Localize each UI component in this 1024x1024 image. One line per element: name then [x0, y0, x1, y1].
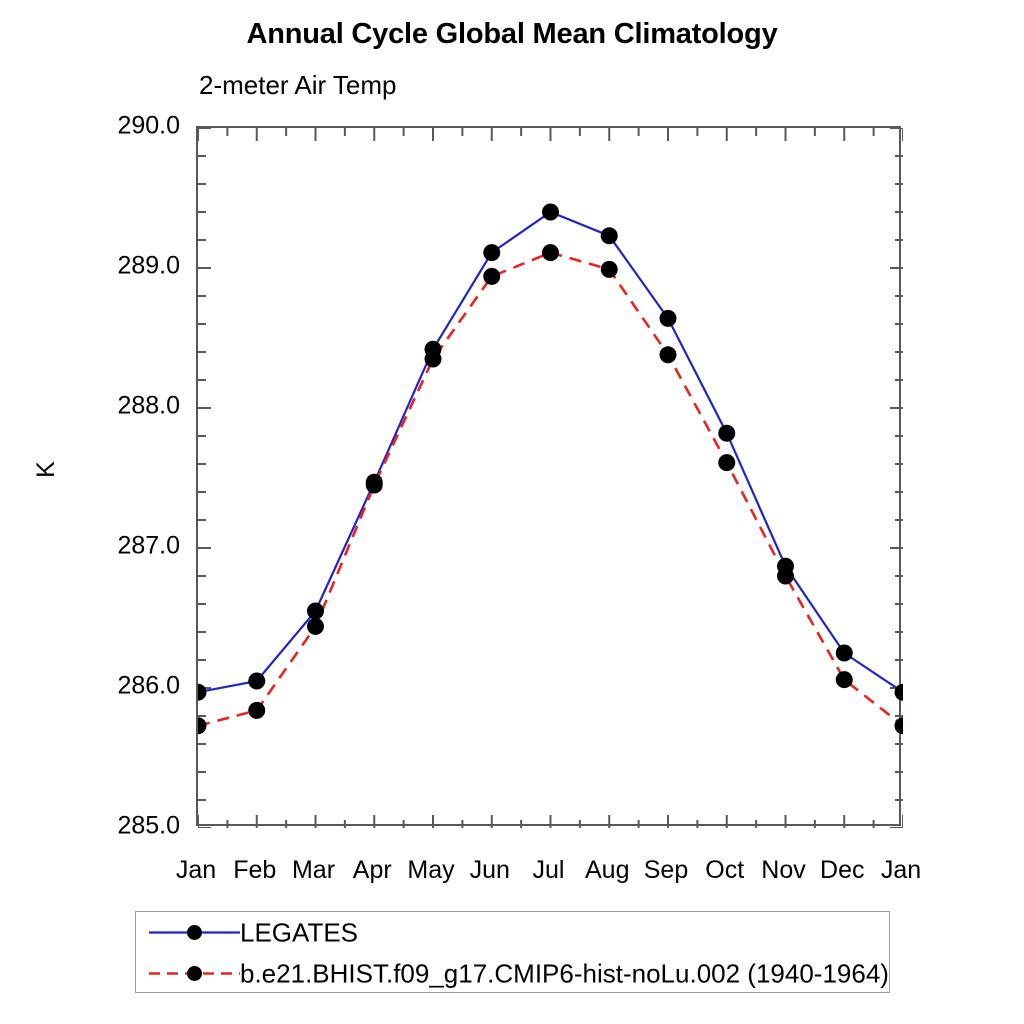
chart-subtitle: 2-meter Air Temp [199, 70, 396, 101]
legend-label-0: LEGATES [240, 917, 358, 948]
series-line-0 [198, 212, 903, 692]
x-tick-label: May [407, 856, 454, 885]
x-tick-label: Jan [176, 856, 216, 885]
data-point [198, 717, 207, 734]
data-point [601, 261, 618, 278]
x-tick-label: Sep [644, 856, 688, 885]
y-tick-label: 290.0 [70, 112, 180, 141]
y-tick-label: 289.0 [70, 252, 180, 281]
x-tick-label: Jan [881, 856, 921, 885]
data-point [248, 673, 265, 690]
x-tick-label: Mar [292, 856, 335, 885]
data-point [248, 702, 265, 719]
y-tick-label: 287.0 [70, 532, 180, 561]
legend-entry-0[interactable]: LEGATES [136, 912, 889, 953]
data-point [307, 618, 324, 635]
data-point [836, 671, 853, 688]
data-point [425, 351, 442, 368]
data-point [836, 645, 853, 662]
legend: LEGATES b.e21.BHIST.f09_g17.CMIP6-hist-n… [135, 911, 890, 993]
y-axis-title: K [32, 461, 61, 478]
y-tick-label: 286.0 [70, 672, 180, 701]
y-tick-label: 288.0 [70, 392, 180, 421]
data-point [895, 717, 904, 734]
x-tick-label: Feb [233, 856, 276, 885]
chart-page: Annual Cycle Global Mean Climatology 2-m… [0, 0, 1024, 1024]
data-point [366, 477, 383, 494]
plot-area [196, 126, 901, 826]
y-axis-tick-labels: 285.0286.0287.0288.0289.0290.0 [60, 0, 180, 1024]
series-line-1 [198, 253, 903, 726]
data-point [483, 268, 500, 285]
data-point [718, 425, 735, 442]
legend-entry-1[interactable]: b.e21.BHIST.f09_g17.CMIP6-hist-noLu.002 … [136, 953, 889, 994]
data-point [777, 568, 794, 585]
y-tick-label: 285.0 [70, 812, 180, 841]
data-point [483, 244, 500, 261]
series-canvas [198, 128, 903, 828]
data-point [542, 204, 559, 221]
x-tick-label: Jul [533, 856, 565, 885]
x-tick-label: Nov [761, 856, 805, 885]
x-tick-label: Jun [470, 856, 510, 885]
data-point [307, 603, 324, 620]
legend-label-1: b.e21.BHIST.f09_g17.CMIP6-hist-noLu.002 … [240, 958, 889, 989]
data-point [542, 244, 559, 261]
data-point [601, 227, 618, 244]
data-point [718, 454, 735, 471]
x-tick-label: Apr [353, 856, 392, 885]
data-point [198, 684, 207, 701]
legend-line-sample-dashed [147, 953, 242, 994]
data-point [660, 310, 677, 327]
legend-line-sample-solid [147, 912, 242, 953]
x-tick-label: Oct [705, 856, 744, 885]
x-tick-label: Dec [820, 856, 864, 885]
x-tick-label: Aug [585, 856, 629, 885]
data-point [660, 346, 677, 363]
